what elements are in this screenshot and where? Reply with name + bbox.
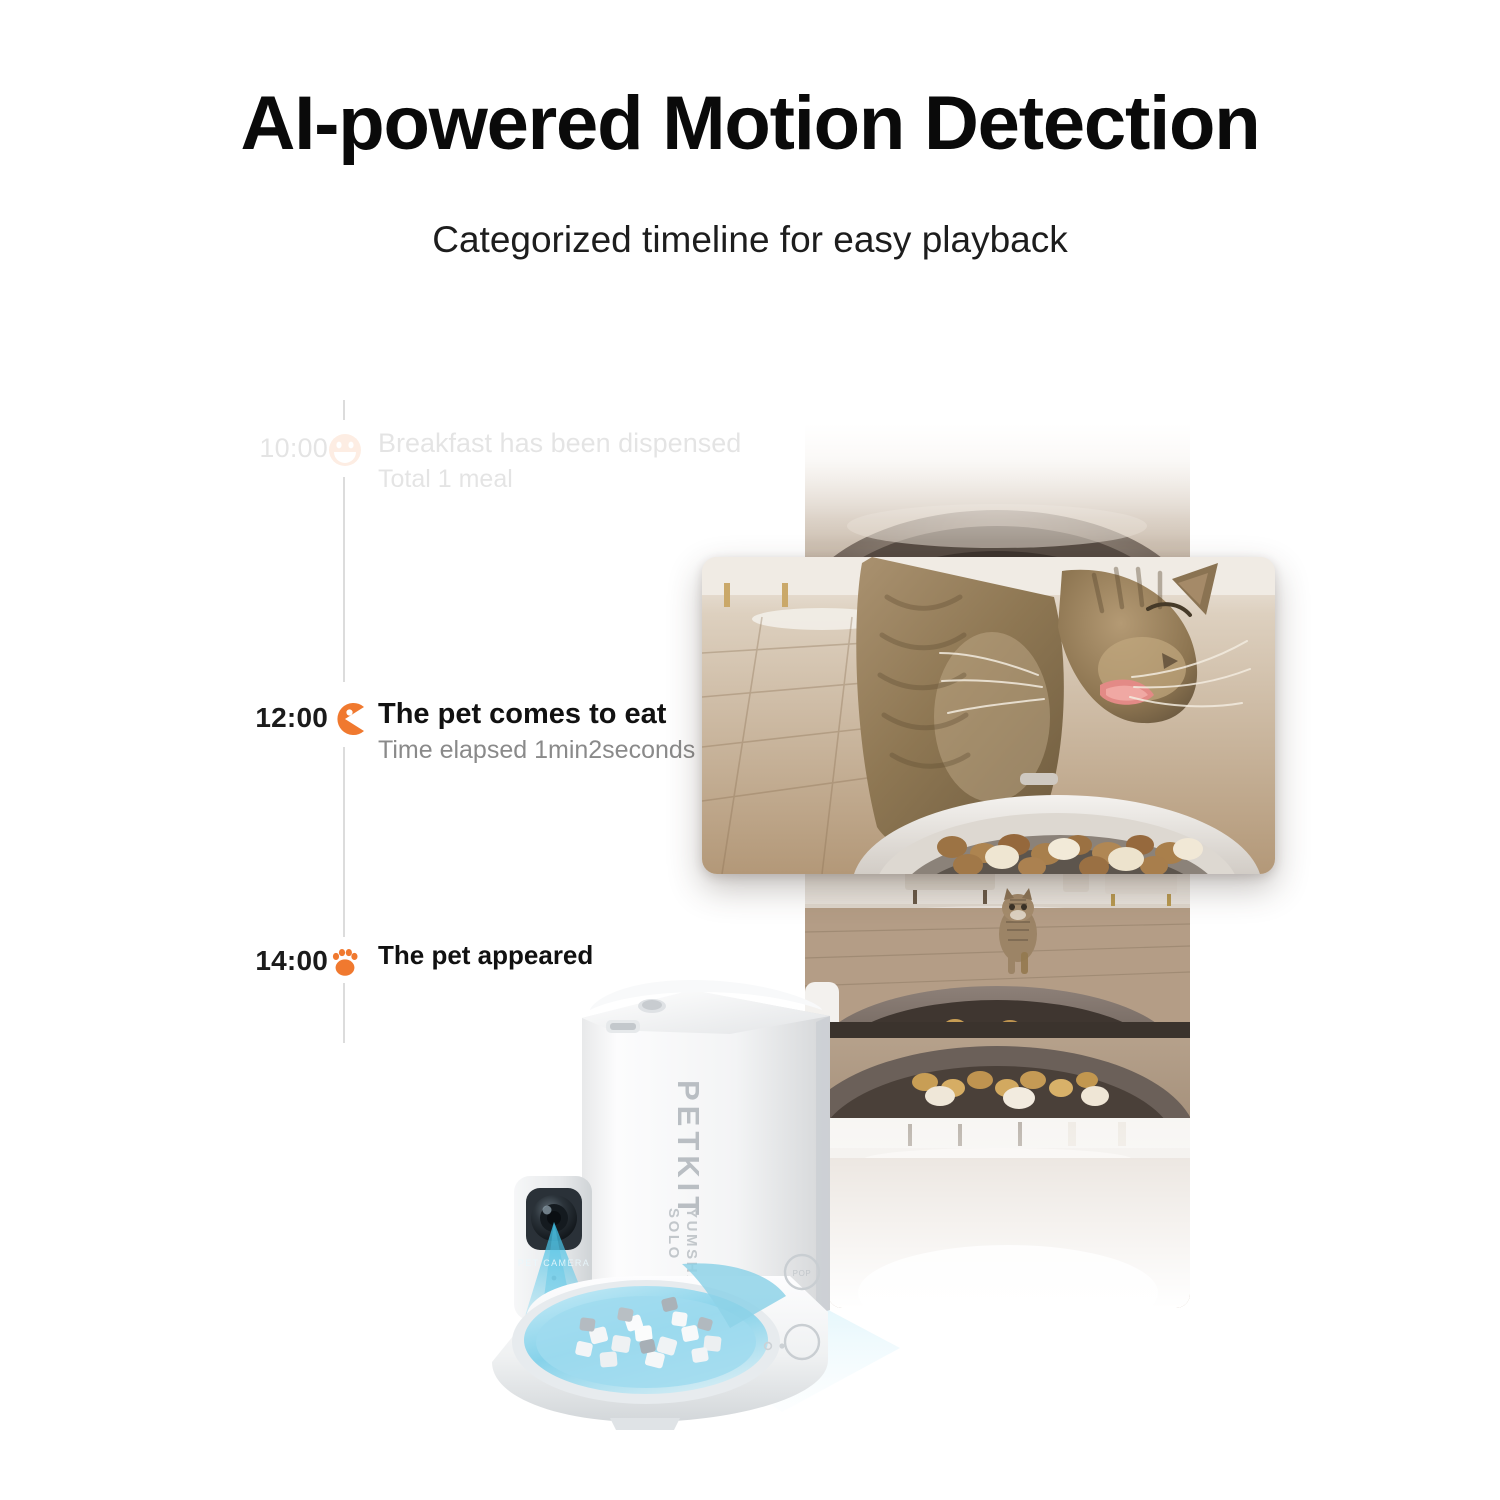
- pet-eating-icon: [324, 698, 366, 740]
- brand-text: PETKIT: [671, 1080, 706, 1220]
- event-time: 14:00: [220, 945, 328, 977]
- marketing-banner: AI-powered Motion Detection Categorized …: [0, 0, 1500, 1500]
- cat-eating-illustration: [702, 557, 1275, 874]
- timeline-axis-segment: [343, 477, 345, 682]
- camera-label-text: PET CAMERA: [518, 1258, 590, 1268]
- pet-feeder-illustration: PETKIT YUMSHARE SOLO PET CAMERA: [430, 960, 910, 1450]
- model-line-2: SOLO: [665, 1208, 682, 1261]
- timeline-axis-segment: [343, 747, 345, 937]
- event-time: 12:00: [220, 702, 328, 734]
- event-detail: Total 1 meal: [378, 464, 778, 495]
- event-body: Breakfast has been dispensed Total 1 mea…: [378, 427, 778, 495]
- cat-eating-featured-photo: [702, 557, 1275, 874]
- timeline-axis-segment: [343, 400, 345, 420]
- event-timeline: 10:00 Breakfast has been dispensed Total…: [220, 405, 780, 1025]
- paw-print-icon: [324, 941, 366, 983]
- smiley-face-icon: [324, 429, 366, 471]
- timeline-axis-segment: [343, 983, 345, 1043]
- svg-text:POP: POP: [793, 1269, 812, 1278]
- pet-feeder-product-image: PETKIT YUMSHARE SOLO PET CAMERA: [430, 960, 910, 1450]
- page-subtitle: Categorized timeline for easy playback: [0, 218, 1500, 262]
- page-title: AI-powered Motion Detection: [0, 82, 1500, 166]
- event-title: Breakfast has been dispensed: [378, 427, 778, 461]
- event-time: 10:00: [220, 433, 328, 464]
